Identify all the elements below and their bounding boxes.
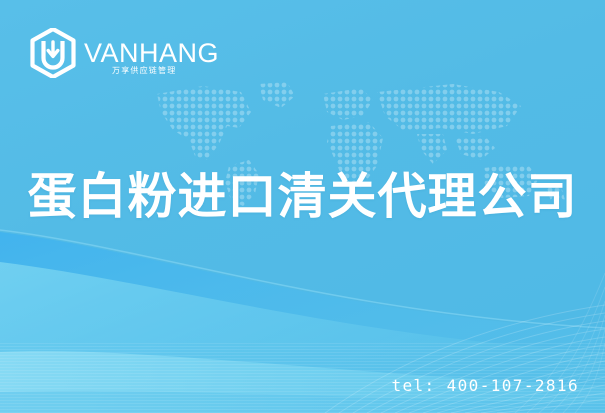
logo-text-block: VANHANG 万享供应链管理 (84, 32, 219, 74)
vanhang-logo[interactable]: VANHANG 万享供应链管理 (30, 28, 219, 78)
logo-wordmark: VANHANG (84, 40, 219, 67)
logo-subtitle: 万享供应链管理 (112, 67, 176, 75)
page-title: 蛋白粉进口清关代理公司 (0, 170, 605, 224)
contact-phone[interactable]: tel: 400-107-2816 (391, 376, 579, 395)
vanhang-hexagon-u-arrow-icon (30, 28, 76, 78)
marketing-banner: VANHANG 万享供应链管理 蛋白粉进口清关代理公司 tel: 400-107… (0, 0, 605, 413)
